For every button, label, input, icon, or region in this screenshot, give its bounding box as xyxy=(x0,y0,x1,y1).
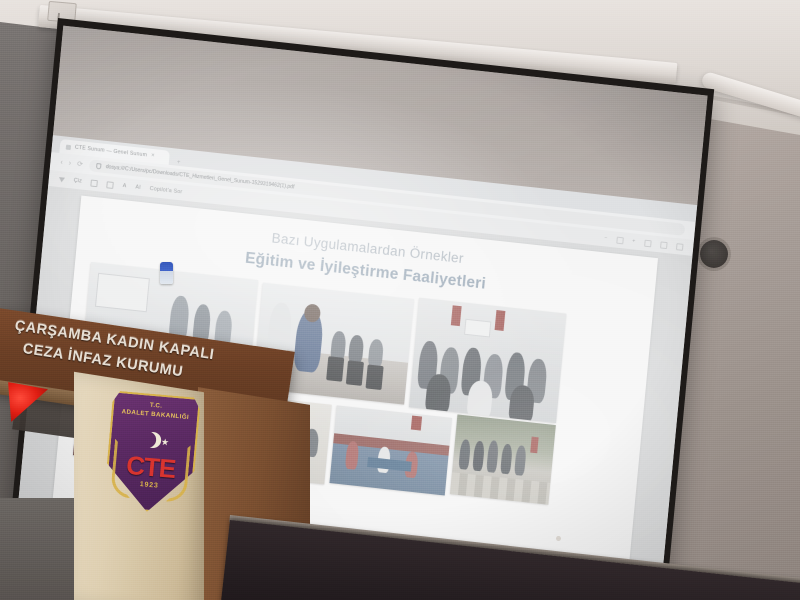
read-aloud-button[interactable]: Copilot'a Sor xyxy=(149,186,182,196)
close-icon[interactable]: × xyxy=(151,153,155,159)
nav-back-icon[interactable]: ‹ xyxy=(60,159,63,166)
highlight-tool-label[interactable]: Çiz xyxy=(73,178,82,185)
page-fit-icon[interactable] xyxy=(107,181,115,189)
undo-icon[interactable] xyxy=(91,179,99,187)
star-icon: ★ xyxy=(161,438,170,448)
reload-icon[interactable]: ⟳ xyxy=(77,160,84,169)
tab-favicon-icon xyxy=(66,144,71,150)
nav-forward-icon[interactable]: › xyxy=(68,160,71,167)
board-mount-nub-icon xyxy=(556,536,561,541)
rotate-icon[interactable] xyxy=(616,236,624,244)
wall-camera-icon xyxy=(700,240,728,268)
text-style-icon[interactable]: A xyxy=(122,183,126,189)
photo-ceremony-outdoor xyxy=(450,414,556,504)
zoom-in-icon[interactable]: + xyxy=(632,238,636,244)
photo-sports-hall xyxy=(329,405,452,495)
shield-icon xyxy=(96,163,102,170)
photo-content xyxy=(450,414,556,504)
photo-conference-audience xyxy=(409,298,567,423)
fit-page-icon[interactable] xyxy=(644,239,652,247)
sidebar-toggle-icon[interactable] xyxy=(59,177,65,183)
ask-ai-icon[interactable]: AI xyxy=(135,184,141,191)
cte-emblem: T.C. ADALET BAKANLIĞI ★ CTE 1923 xyxy=(103,390,201,515)
water-bottle xyxy=(160,262,173,284)
projected-presentation-photo: CTE Sunum — Genel Sunum × + ‹ › ⟳ dosya:… xyxy=(0,0,800,600)
new-tab-button[interactable]: + xyxy=(177,160,181,166)
photo-content xyxy=(409,298,567,423)
download-icon[interactable] xyxy=(660,241,668,249)
print-icon[interactable] xyxy=(676,243,684,251)
zoom-out-icon[interactable]: − xyxy=(604,235,608,241)
photo-content xyxy=(329,405,452,495)
